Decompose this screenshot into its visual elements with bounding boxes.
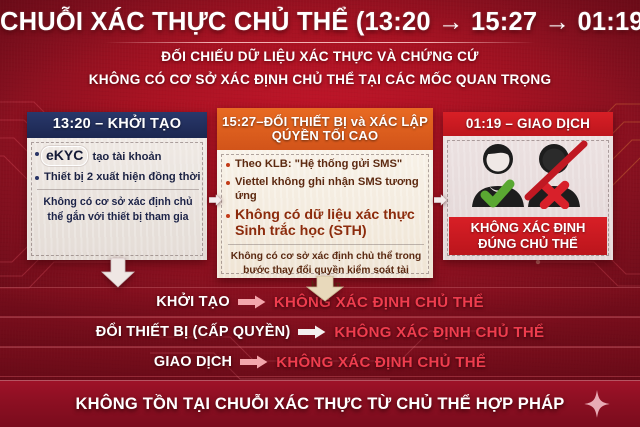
- page-title: CHUỖI XÁC THỰC CHỦ THỂ (13:20 → 15:27 → …: [0, 9, 640, 36]
- list-item-label-emphasis: Không có dữ liệu xác thực Sinh trắc học …: [235, 207, 426, 240]
- panel-doi-thiet-bi-header: 15:27–ĐỔI THIẾT BỊ và XÁC LẬP QÚYỀN TỐI …: [217, 108, 433, 150]
- footer-text: KHÔNG TỒN TẠI CHUỖI XÁC THỰC TỪ CHỦ THỂ …: [76, 395, 565, 414]
- right-arrow-icon: [238, 295, 266, 309]
- conclusion-result: KHÔNG XÁC ĐỊNH CHỦ THỂ: [276, 354, 486, 371]
- right-arrow-icon-1: [209, 194, 222, 206]
- conclusion-row-giao-dich: GIAO DỊCH KHÔNG XÁC ĐỊNH CHỦ THỂ: [0, 347, 640, 377]
- bullet-dot-icon: [226, 181, 230, 185]
- conclusion-label: KHỞI TẠO: [156, 294, 230, 310]
- panel-giao-dich-header: 01:19 – GIAO DỊCH: [443, 112, 613, 136]
- panel-khoi-tao-body: eKYC tạo tài khoản Thiết bị 2 xuất hiện …: [27, 138, 207, 260]
- right-arrow-icon: [240, 355, 268, 369]
- ekyc-highlight: eKYC: [41, 146, 88, 166]
- down-arrow-icon-doi-thiet-bi: [306, 276, 344, 302]
- list-item: Viettel không ghi nhận SMS tương ứng: [226, 175, 426, 203]
- panel-khoi-tao-bullets: eKYC tạo tài khoản Thiết bị 2 xuất hiện …: [35, 146, 201, 225]
- panel-khoi-tao[interactable]: 13:20 – KHỞI TẠO eKYC tạo tài khoản Thiế…: [27, 112, 207, 260]
- header-subtitle-2: KHÔNG CÓ CƠ SỞ XÁC ĐỊNH CHỦ THỂ TẠI CÁC …: [0, 72, 640, 87]
- list-item-label: Viettel không ghi nhận SMS tương ứng: [235, 175, 426, 203]
- list-item-label: Theo KLB: "Hệ thống gửi SMS": [235, 157, 402, 171]
- header-divider: [105, 42, 535, 43]
- header-subtitle-1: ĐỐI CHIẾU DỮ LIỆU XÁC THỰC VÀ CHỨNG CỨ: [0, 49, 640, 64]
- bullet-dot-icon: [35, 152, 39, 156]
- status-badge: KHÔNG XÁC ĐỊNH ĐÚNG CHỦ THỂ: [449, 217, 607, 255]
- bullet-dot-icon: [226, 163, 230, 167]
- header: CHUỖI XÁC THỰC CHỦ THỂ (13:20 → 15:27 → …: [0, 0, 640, 100]
- list-item: eKYC tạo tài khoản: [35, 146, 201, 166]
- conclusion-result: KHÔNG XÁC ĐỊNH CHỦ THỂ: [334, 324, 544, 341]
- panel-doi-thiet-bi[interactable]: 15:27–ĐỔI THIẾT BỊ và XÁC LẬP QÚYỀN TỐI …: [217, 108, 433, 278]
- list-item-label: Thiết bị 2 xuất hiện đồng thời: [44, 170, 201, 184]
- conclusion-label: GIAO DỊCH: [154, 354, 232, 370]
- right-arrow-icon-2: [434, 194, 447, 206]
- conclusion-label: ĐỔI THIẾT BỊ (CẤP QUYỀN): [96, 324, 291, 340]
- list-item: Không có dữ liệu xác thực Sinh trắc học …: [226, 207, 426, 240]
- panel-doi-thiet-bi-body: Theo KLB: "Hệ thống gửi SMS" Viettel khô…: [217, 150, 433, 278]
- bullet-dot-icon: [226, 214, 230, 218]
- identity-mismatch-figure: [449, 138, 607, 210]
- panel-khoi-tao-note: Không có cơ sở xác định chủ thể gắn với …: [35, 195, 201, 225]
- panel-giao-dich-body: KHÔNG XÁC ĐỊNH ĐÚNG CHỦ THỂ: [443, 136, 613, 260]
- list-item: Thiết bị 2 xuất hiện đồng thời: [35, 170, 201, 184]
- timeline-panels: 13:20 – KHỞI TẠO eKYC tạo tài khoản Thiế…: [0, 108, 640, 283]
- divider: [228, 244, 424, 245]
- right-arrow-icon: [298, 325, 326, 339]
- panel-doi-thiet-bi-bullets: Theo KLB: "Hệ thống gửi SMS" Viettel khô…: [226, 157, 426, 293]
- status-badge-line-2: ĐÚNG CHỦ THỂ: [478, 236, 578, 252]
- footer-banner: KHÔNG TỒN TẠI CHUỖI XÁC THỰC TỪ CHỦ THỂ …: [0, 380, 640, 427]
- list-item: Theo KLB: "Hệ thống gửi SMS": [226, 157, 426, 171]
- conclusion-row-doi-thiet-bi: ĐỔI THIẾT BỊ (CẤP QUYỀN) KHÔNG XÁC ĐỊNH …: [0, 317, 640, 347]
- down-arrow-icon-khoi-tao: [101, 258, 135, 288]
- bullet-dot-icon: [35, 176, 39, 180]
- panel-khoi-tao-header: 13:20 – KHỞI TẠO: [27, 112, 207, 138]
- two-persons-icon: [462, 139, 594, 209]
- divider: [37, 189, 199, 190]
- panel-giao-dich[interactable]: 01:19 – GIAO DỊCH: [443, 112, 613, 260]
- sparkle-icon: [584, 390, 610, 418]
- status-badge-line-1: KHÔNG XÁC ĐỊNH: [471, 220, 586, 236]
- list-item-label: tạo tài khoản: [89, 151, 161, 163]
